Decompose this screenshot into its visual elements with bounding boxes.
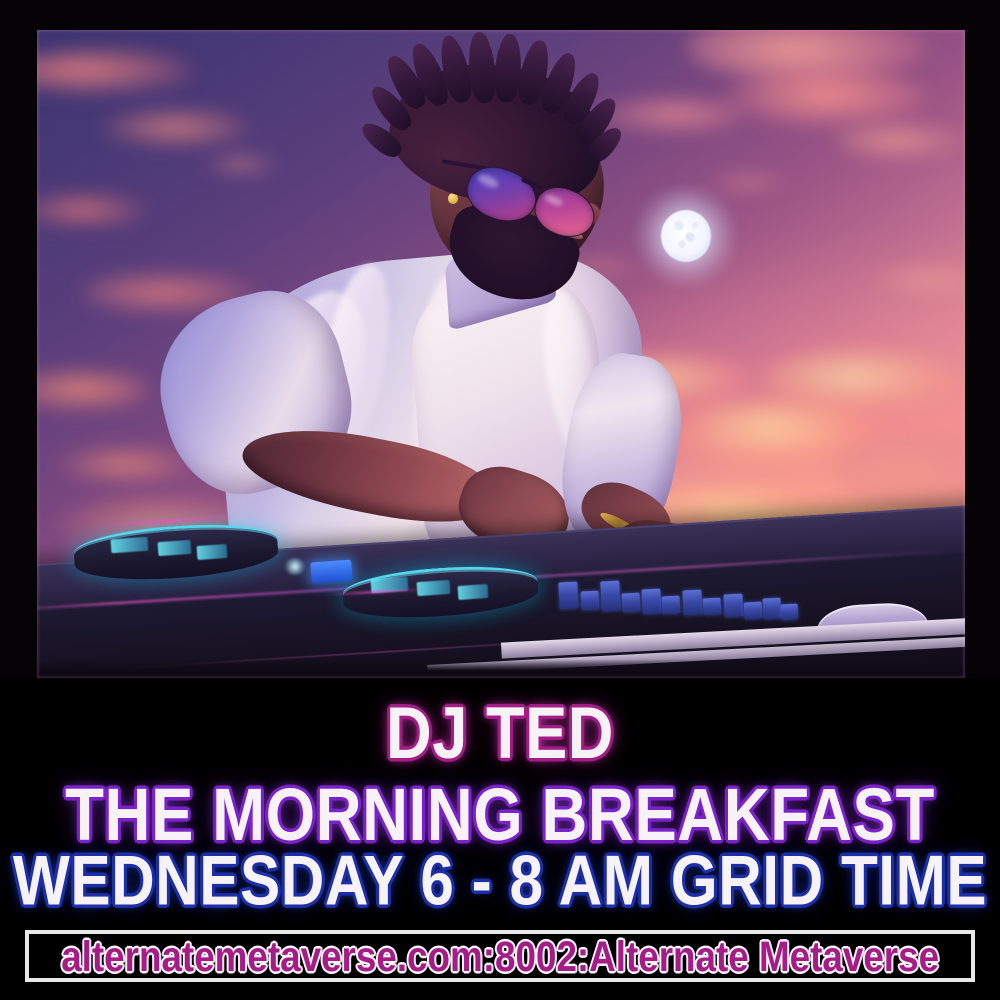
cue-button: [310, 560, 352, 584]
grid-url-bar[interactable]: alternatemetaverse.com:8002:Alternate Me…: [25, 930, 975, 982]
mixer-knob: [723, 593, 743, 617]
mixer-knob: [621, 593, 640, 613]
grid-url-text: alternatemetaverse.com:8002:Alternate Me…: [61, 935, 939, 978]
dj-name-headline: DJ TED: [0, 698, 1000, 771]
mixer-knob: [762, 597, 781, 619]
turntable-led-segment: [157, 540, 191, 557]
mixer-knob: [558, 582, 578, 610]
dj-event-poster: DJ TED THE MORNING BREAKFAST WEDNESDAY 6…: [0, 0, 1000, 1000]
poster-text-block: DJ TED THE MORNING BREAKFAST WEDNESDAY 6…: [0, 678, 1000, 1000]
mixer-knob: [682, 589, 702, 615]
artwork-bottom-fade: [37, 659, 965, 678]
mixer-knob: [744, 601, 762, 619]
turntable-led-segment: [111, 537, 149, 554]
mixer-knob: [662, 595, 681, 614]
mixer-knob: [580, 591, 599, 611]
show-time-headline: WEDNESDAY 6 - 8 AM GRID TIME: [0, 846, 1000, 917]
deck-hotspot-light: [283, 558, 307, 575]
mixer-knob: [703, 598, 722, 616]
artwork-image: [37, 30, 965, 678]
turntable-led-segment: [196, 543, 227, 559]
turntable-led-segment: [458, 584, 489, 600]
mixer-knob: [781, 604, 798, 620]
mixer-knob: [641, 588, 661, 614]
mixer-knob: [600, 580, 620, 611]
